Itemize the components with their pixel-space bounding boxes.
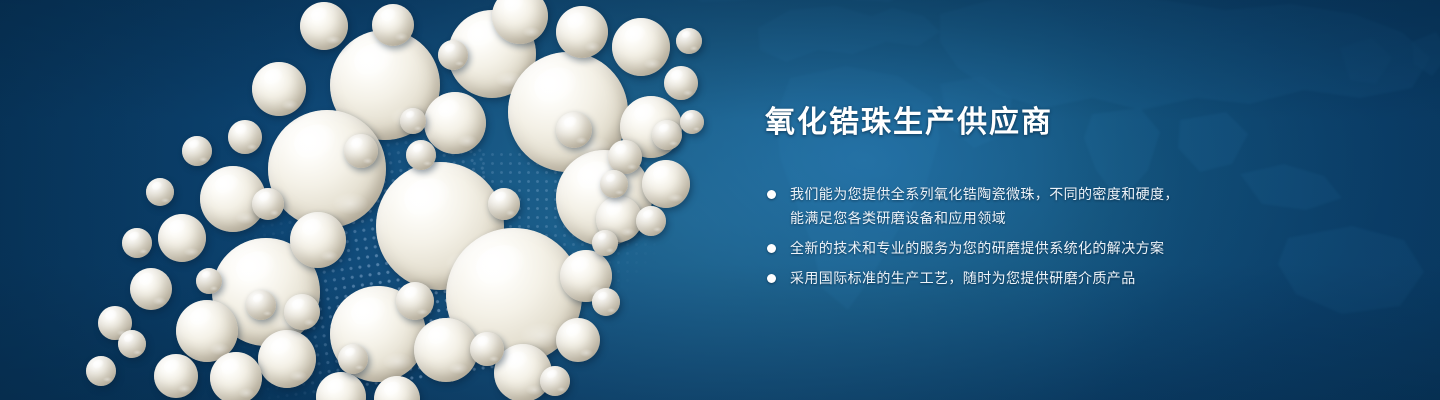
bead bbox=[406, 140, 436, 170]
bead bbox=[300, 2, 348, 50]
bead bbox=[130, 268, 172, 310]
list-item: 我们能为您提供全系列氧化锆陶瓷微珠，不同的密度和硬度， 能满足您各类研磨设备和应… bbox=[765, 182, 1235, 230]
bead bbox=[592, 230, 618, 256]
banner-copy: 氧化锆珠生产供应商 我们能为您提供全系列氧化锆陶瓷微珠，不同的密度和硬度， 能满… bbox=[765, 104, 1235, 290]
bead bbox=[338, 344, 368, 374]
page-title: 氧化锆珠生产供应商 bbox=[765, 104, 1235, 142]
bead bbox=[252, 188, 284, 220]
bullet-dot-icon bbox=[767, 190, 776, 199]
list-item: 采用国际标准的生产工艺，随时为您提供研磨介质产品 bbox=[765, 266, 1235, 290]
bead bbox=[290, 212, 346, 268]
bead bbox=[258, 330, 316, 388]
bead bbox=[284, 294, 320, 330]
list-item: 全新的技术和专业的服务为您的研磨提供系统化的解决方案 bbox=[765, 236, 1235, 260]
bead bbox=[182, 136, 212, 166]
bead bbox=[652, 120, 682, 150]
bead bbox=[246, 290, 276, 320]
bead bbox=[612, 18, 670, 76]
bead bbox=[556, 318, 600, 362]
bead bbox=[396, 282, 434, 320]
bead bbox=[268, 110, 386, 228]
bead bbox=[146, 178, 174, 206]
hero-banner: 氧化锆珠生产供应商 我们能为您提供全系列氧化锆陶瓷微珠，不同的密度和硬度， 能满… bbox=[0, 0, 1440, 400]
bead bbox=[642, 160, 690, 208]
bead bbox=[608, 140, 642, 174]
bead bbox=[414, 318, 478, 382]
bullet-dot-icon bbox=[767, 274, 776, 283]
bead bbox=[210, 352, 262, 400]
bead bbox=[488, 188, 520, 220]
bead bbox=[228, 120, 262, 154]
bead bbox=[252, 62, 306, 116]
bead bbox=[600, 170, 628, 198]
bead bbox=[122, 228, 152, 258]
list-item-line: 能满足您各类研磨设备和应用领域 bbox=[790, 206, 1235, 230]
bead bbox=[424, 92, 486, 154]
bead bbox=[556, 112, 592, 148]
bullet-dot-icon bbox=[767, 244, 776, 253]
bead bbox=[636, 206, 666, 236]
bead bbox=[470, 332, 504, 366]
bead bbox=[372, 4, 414, 46]
bead bbox=[592, 288, 620, 316]
bead bbox=[344, 134, 378, 168]
bead bbox=[680, 110, 704, 134]
list-item-line: 采用国际标准的生产工艺，随时为您提供研磨介质产品 bbox=[790, 266, 1235, 290]
bead bbox=[664, 66, 698, 100]
bead bbox=[196, 268, 222, 294]
bead bbox=[676, 28, 702, 54]
list-item-line: 我们能为您提供全系列氧化锆陶瓷微珠，不同的密度和硬度， bbox=[790, 182, 1235, 206]
bead bbox=[556, 6, 608, 58]
feature-list: 我们能为您提供全系列氧化锆陶瓷微珠，不同的密度和硬度， 能满足您各类研磨设备和应… bbox=[765, 182, 1235, 290]
bead bbox=[540, 366, 570, 396]
bead bbox=[118, 330, 146, 358]
bead bbox=[154, 354, 198, 398]
bead bbox=[86, 356, 116, 386]
bead bbox=[400, 108, 426, 134]
zirconia-beads-image bbox=[0, 0, 760, 400]
bead bbox=[438, 40, 468, 70]
bead bbox=[158, 214, 206, 262]
list-item-line: 全新的技术和专业的服务为您的研磨提供系统化的解决方案 bbox=[790, 236, 1235, 260]
